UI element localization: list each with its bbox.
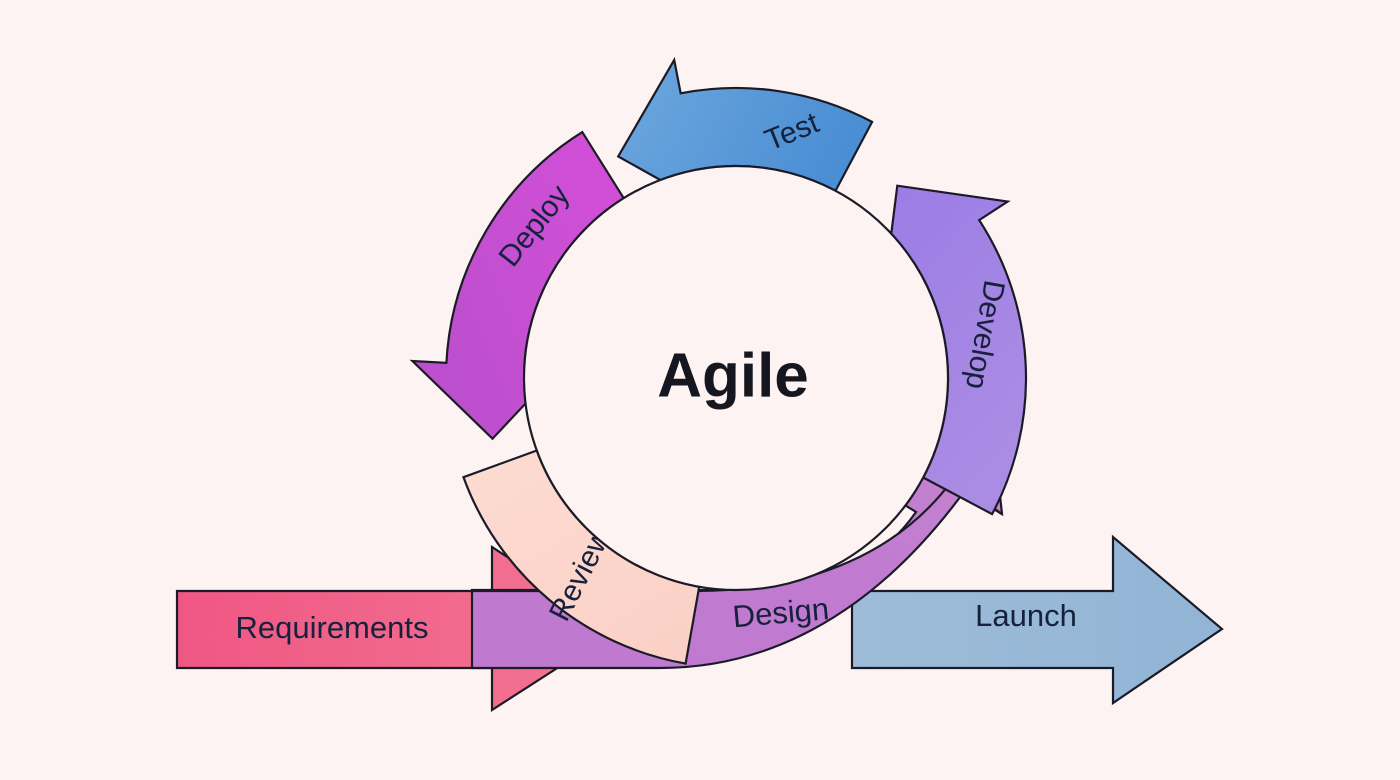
center-title: Agile (657, 341, 809, 410)
agile-cycle-diagram: Requirements Launch Design Review Deploy (0, 0, 1400, 780)
requirements-label: Requirements (236, 610, 429, 645)
diagram-canvas: Requirements Launch Design Review Deploy (0, 0, 1400, 780)
launch-label: Launch (975, 598, 1077, 633)
